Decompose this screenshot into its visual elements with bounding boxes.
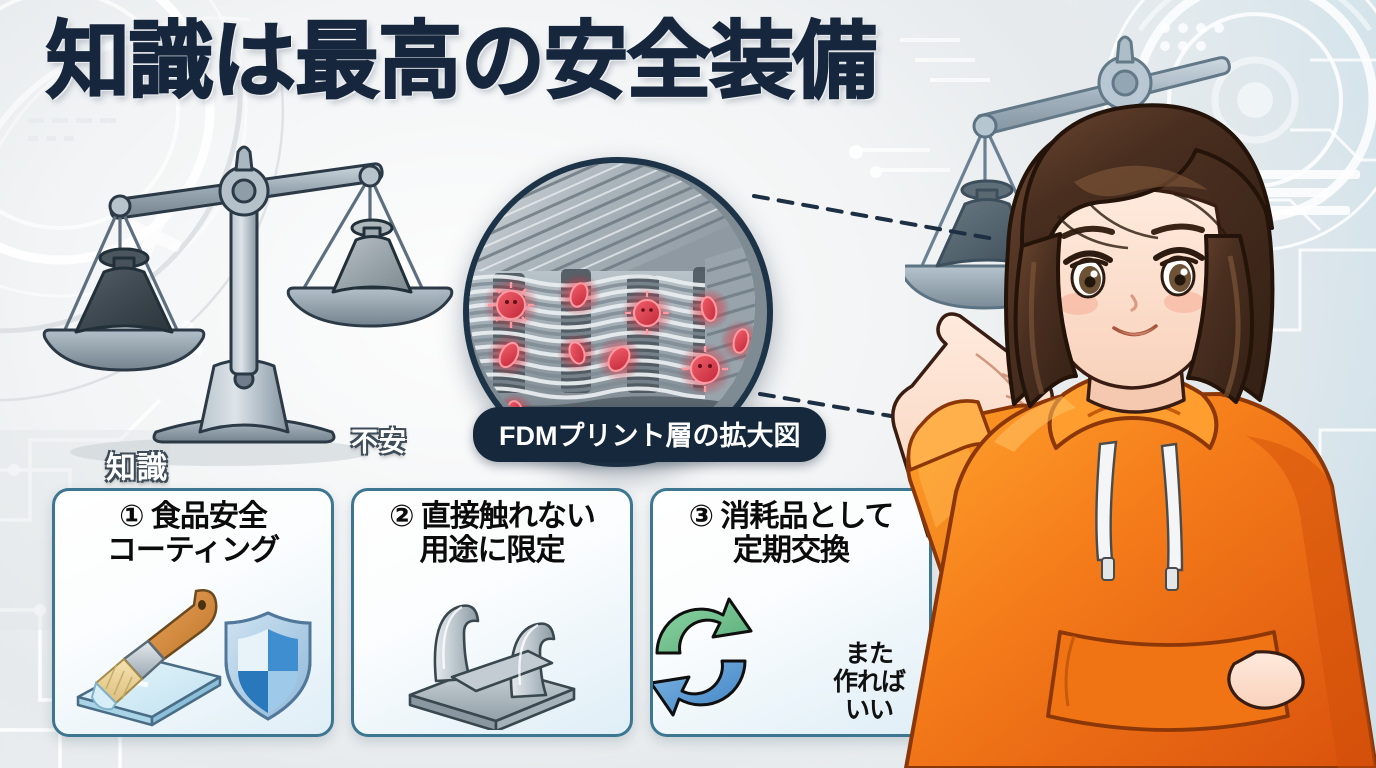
- balance-scale-left: 知識 不安: [28, 140, 458, 470]
- tip-card-1[interactable]: ① 食品安全 コーティング: [52, 488, 334, 737]
- page-title: 知識は最高の安全装備: [46, 18, 876, 105]
- tip-card-2-line1: ② 直接触れない: [354, 500, 630, 534]
- paint-brush-and-shield-icon: [55, 585, 331, 730]
- tip-card-1-line1: ① 食品安全: [55, 500, 331, 534]
- anime-girl-presenter: [826, 96, 1376, 768]
- infographic-canvas: 知識は最高の安全装備: [0, 0, 1376, 768]
- tip-card-2-line2: 用途に限定: [354, 534, 630, 568]
- printed-stand-icon: [354, 585, 630, 730]
- tip-card-2[interactable]: ② 直接触れない 用途に限定: [351, 488, 633, 737]
- tip-card-1-line2: コーティング: [55, 534, 331, 568]
- tip-card-2-title: ② 直接触れない 用途に限定: [354, 500, 630, 568]
- magnifier-caption-badge: FDMプリント層の拡大図: [473, 407, 826, 462]
- tips-card-group: ① 食品安全 コーティング: [52, 488, 932, 740]
- tip-card-1-title: ① 食品安全 コーティング: [55, 500, 331, 568]
